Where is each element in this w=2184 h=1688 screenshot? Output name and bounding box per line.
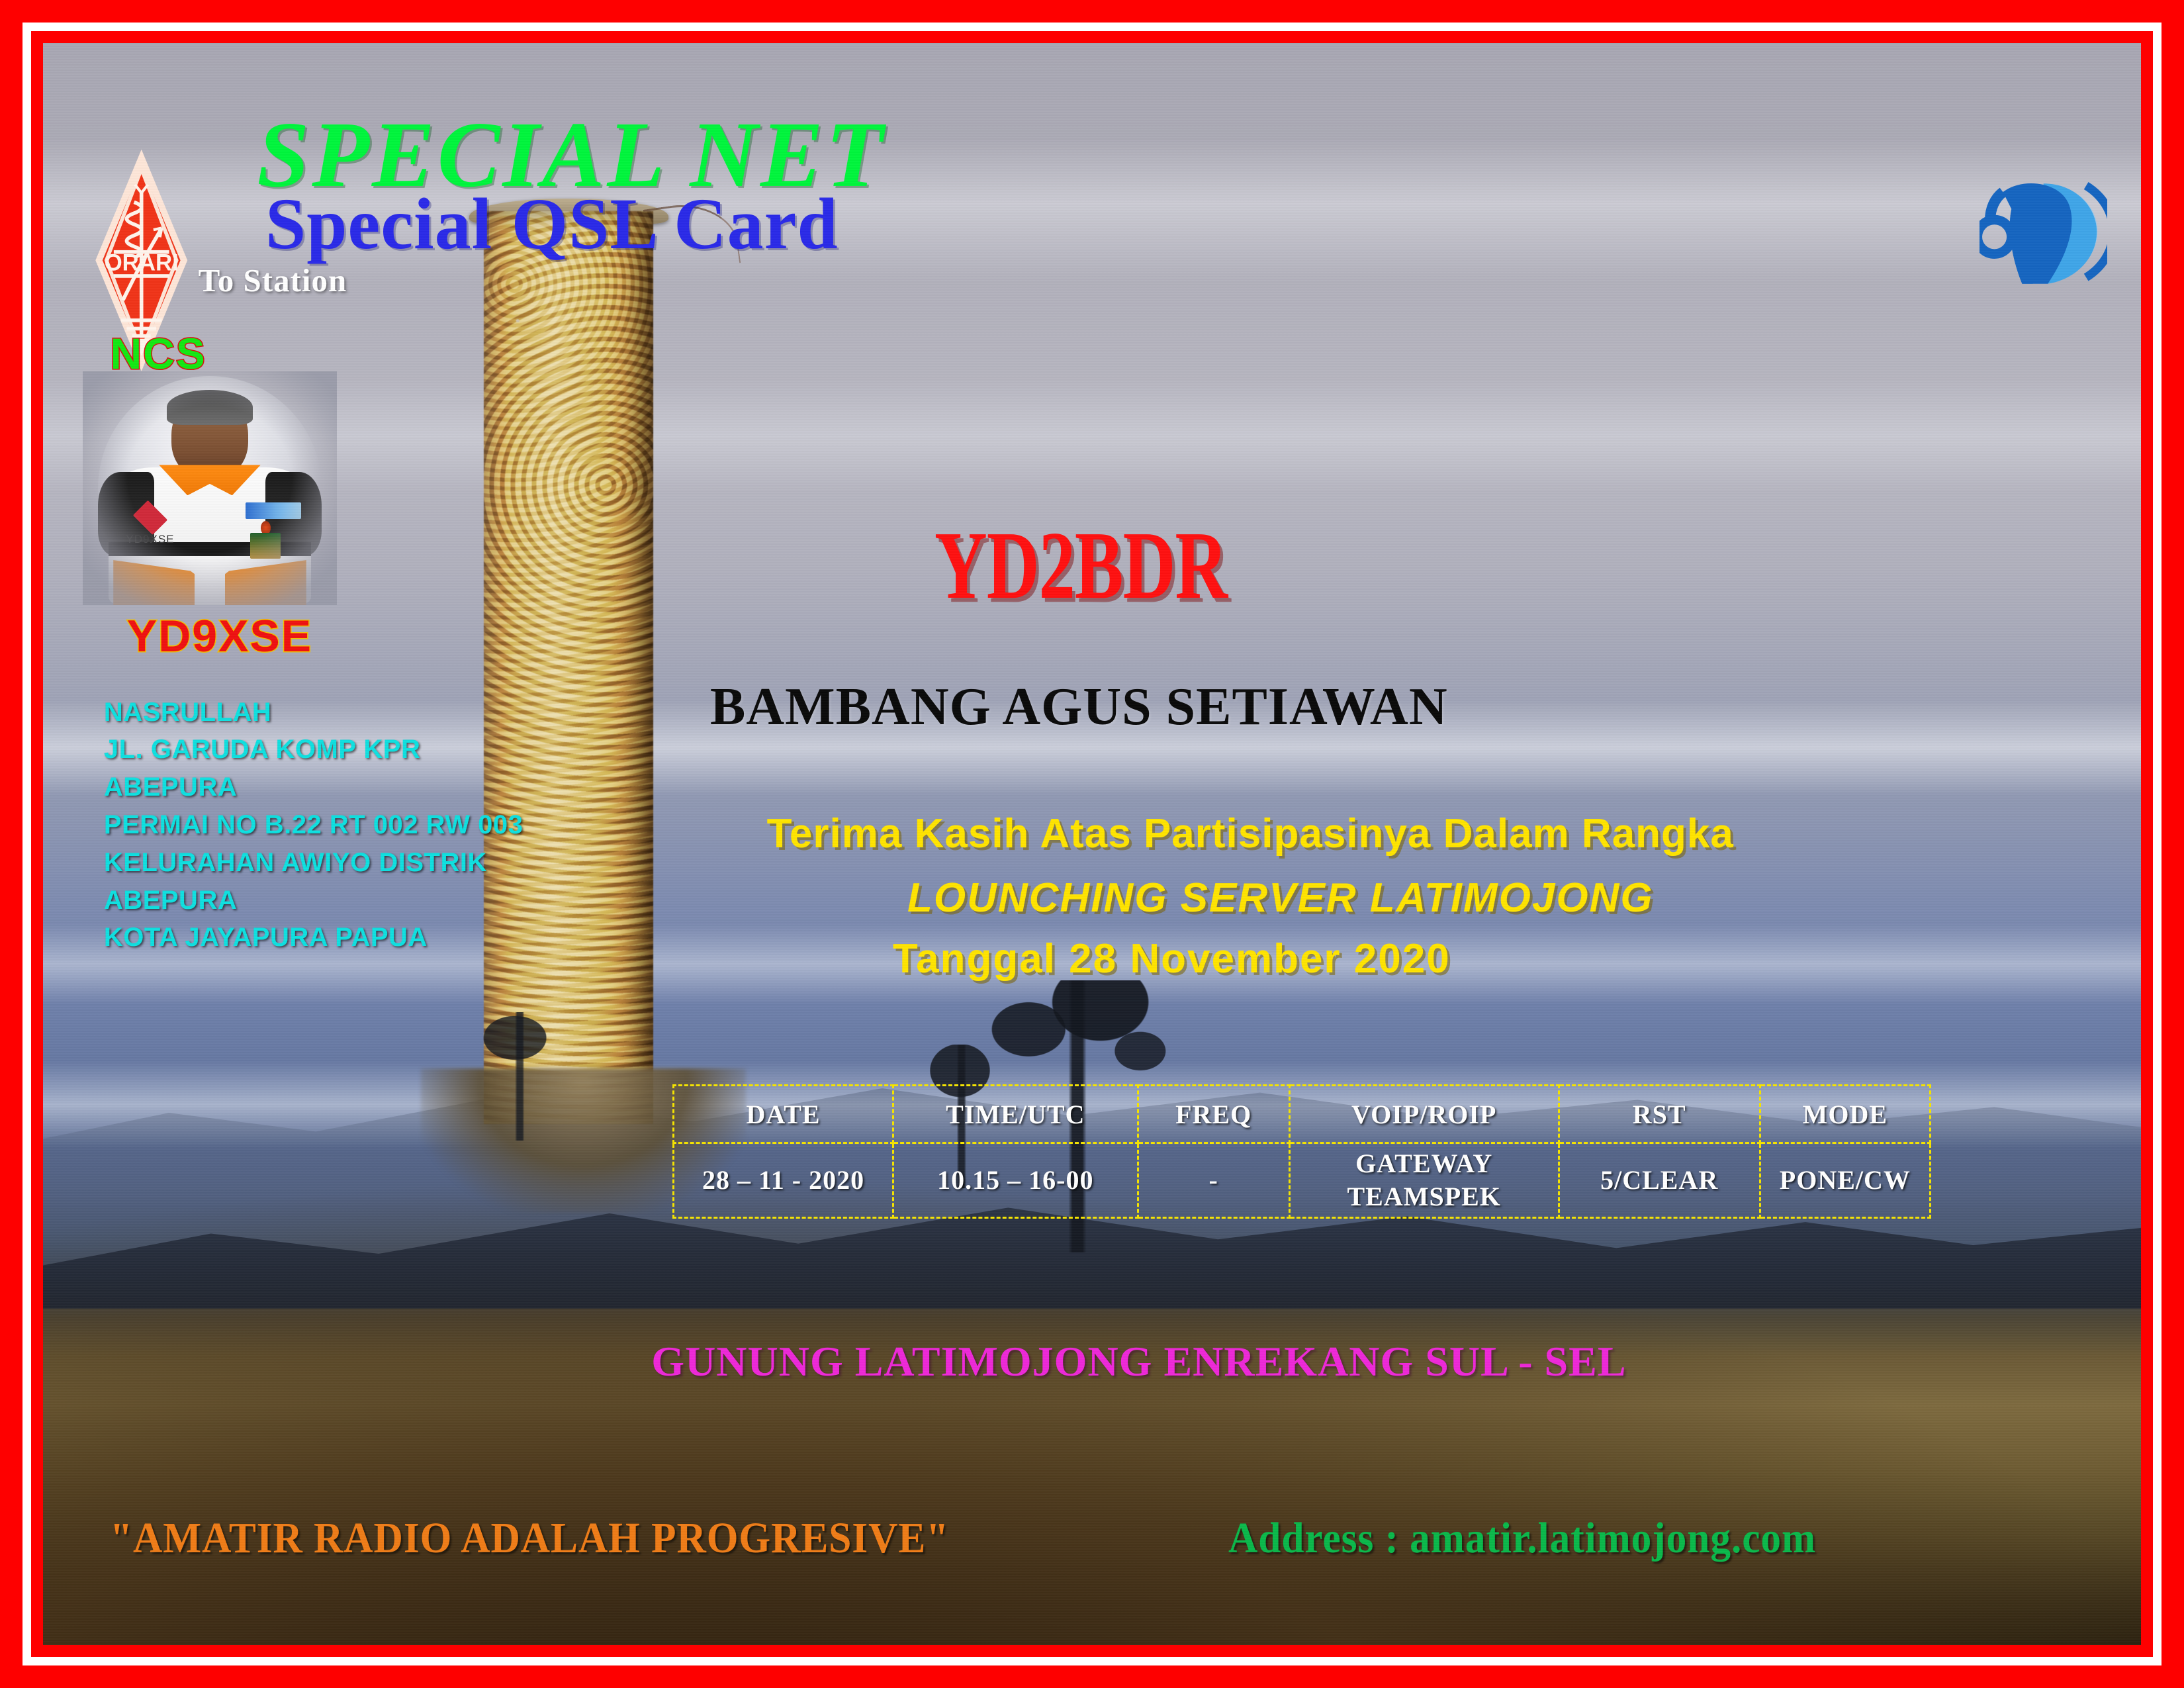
background-photo-mountain-summit: ORARI [43,43,2141,1645]
ncs-label: NCS [110,332,206,375]
column-header-rst: RST [1559,1086,1760,1143]
qso-log-table: DATE TIME/UTC FREQ VOIP/ROIP RST MODE 28… [672,1084,1931,1219]
footer-web-address: Address : amatir.latimojong.com [1228,1517,1816,1560]
address-line: JL. GARUDA KOMP KPR [104,731,523,769]
event-date-text: Tanggal 28 November 2020 [893,939,1451,980]
qsl-card-outer-border: ORARI [0,0,2184,1688]
address-line: ABEPURA [104,882,523,919]
headphone-profile-radio-icon [1979,91,2107,372]
column-header-mode: MODE [1760,1086,1930,1143]
column-header-time: TIME/UTC [893,1086,1138,1143]
table-row: 28 – 11 - 2020 10.15 – 16-00 - GATEWAY T… [674,1143,1931,1218]
qsl-card-white-gap: ORARI [23,23,2161,1665]
cell-voip-roip: GATEWAY TEAMSPEK [1289,1143,1559,1218]
cell-mode: PONE/CW [1760,1143,1930,1218]
column-header-freq: FREQ [1138,1086,1289,1143]
content-overlay: ORARI [43,43,2141,1645]
address-line: PERMAI NO B.22 RT 002 RW 003 [104,806,523,844]
page-subtitle: Special QSL Card [265,187,839,260]
footer-motto: "AMATIR RADIO ADALAH PROGRESIVE" [110,1517,949,1560]
to-station-label: To Station [199,264,347,297]
event-thanks-text: Terima Kasih Atas Partisipasinya Dalam R… [767,814,1734,855]
event-occasion-text: LOUNCHING SERVER LATIMOJONG [907,878,1654,919]
cell-freq: - [1138,1143,1289,1218]
address-line: KOTA JAYAPURA PAPUA [104,919,523,957]
ncs-address-block: NASRULLAH JL. GARUDA KOMP KPR ABEPURA PE… [104,694,523,957]
table-header-row: DATE TIME/UTC FREQ VOIP/ROIP RST MODE [674,1086,1931,1143]
address-line: KELURAHAN AWIYO DISTRIK [104,844,523,882]
address-line: NASRULLAH [104,694,523,731]
cell-rst: 5/CLEAR [1559,1143,1760,1218]
avatar: YD9XSE [83,371,337,605]
column-header-date: DATE [674,1086,893,1143]
station-callsign: YD2BDR [934,517,1227,614]
address-line: ABEPURA [104,769,523,806]
venue-text: GUNUNG LATIMOJONG ENREKANG SUL - SEL [651,1340,1626,1383]
ncs-callsign: YD9XSE [127,614,312,659]
operator-name: BAMBANG AGUS SETIAWAN [710,680,1448,733]
column-header-voip-roip: VOIP/ROIP [1289,1086,1559,1143]
svg-text:ORARI: ORARI [105,250,179,275]
operator-portrait-image: YD9XSE [83,371,337,605]
qsl-card-inner-border: ORARI [31,31,2153,1657]
cell-date: 28 – 11 - 2020 [674,1143,893,1218]
cell-time: 10.15 – 16-00 [893,1143,1138,1218]
